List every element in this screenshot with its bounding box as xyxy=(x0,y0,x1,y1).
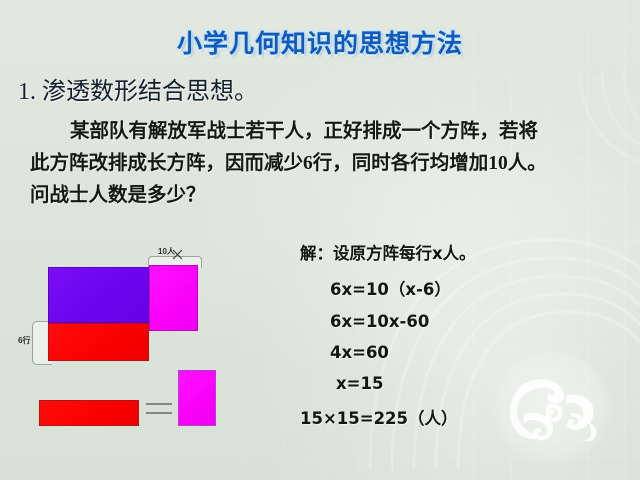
problem-line-2a: 此方阵改排成长方阵，因而减少 xyxy=(30,153,303,174)
page-title: 小学几何知识的思想方法 xyxy=(0,24,640,60)
geometry-diagram: 10人 6行 xyxy=(0,240,300,440)
equals-bar-upper xyxy=(146,403,172,405)
rect-added-columns-compare xyxy=(178,370,216,426)
problem-statement: 某部队有解放军战士若干人，正好排成一个方阵，若将 此方阵改排成长方阵，因而减少6… xyxy=(30,116,618,212)
problem-line-1: 某部队有解放军战士若干人，正好排成一个方阵，若将 xyxy=(70,121,538,142)
equals-bar-lower xyxy=(146,412,172,414)
problem-line-2c: 行，同时各行均增加 xyxy=(313,153,489,174)
solution-block: 解：设原方阵每行x人。 6x=10（x-6） 6x=10x-60 4x=60 x… xyxy=(300,240,560,429)
brace-left-removed-rows: 6行 xyxy=(18,321,51,363)
equals-sign-icon xyxy=(146,403,172,417)
solution-line-answer: 15×15=225（人） xyxy=(300,405,560,429)
rect-removed-rows-compare xyxy=(39,400,139,426)
section-heading: 1. 渗透数形结合思想。 xyxy=(18,71,258,106)
problem-value-rows: 6 xyxy=(303,153,313,174)
rect-removed-rows xyxy=(48,323,149,361)
solution-line-equation-4: x=15 xyxy=(300,374,560,393)
solution-line-equation-2: 6x=10x-60 xyxy=(300,312,560,331)
brace-top-tick-icon xyxy=(172,249,183,260)
problem-line-2e: 人。 xyxy=(508,153,547,174)
solution-line-equation-1: 6x=10（x-6） xyxy=(300,276,560,300)
slide-canvas: 小学几何知识的思想方法 1. 渗透数形结合思想。 某部队有解放军战士若干人，正好… xyxy=(0,0,640,480)
brace-left-label: 6行 xyxy=(18,335,30,346)
solution-line-setup: 解：设原方阵每行x人。 xyxy=(300,240,560,264)
problem-value-people: 10 xyxy=(488,153,508,174)
problem-line-3: 问战士人数是多少？ xyxy=(30,185,206,206)
rect-added-columns xyxy=(149,265,198,331)
solution-line-equation-3: 4x=60 xyxy=(300,343,560,362)
rect-original-square-core xyxy=(48,267,149,323)
